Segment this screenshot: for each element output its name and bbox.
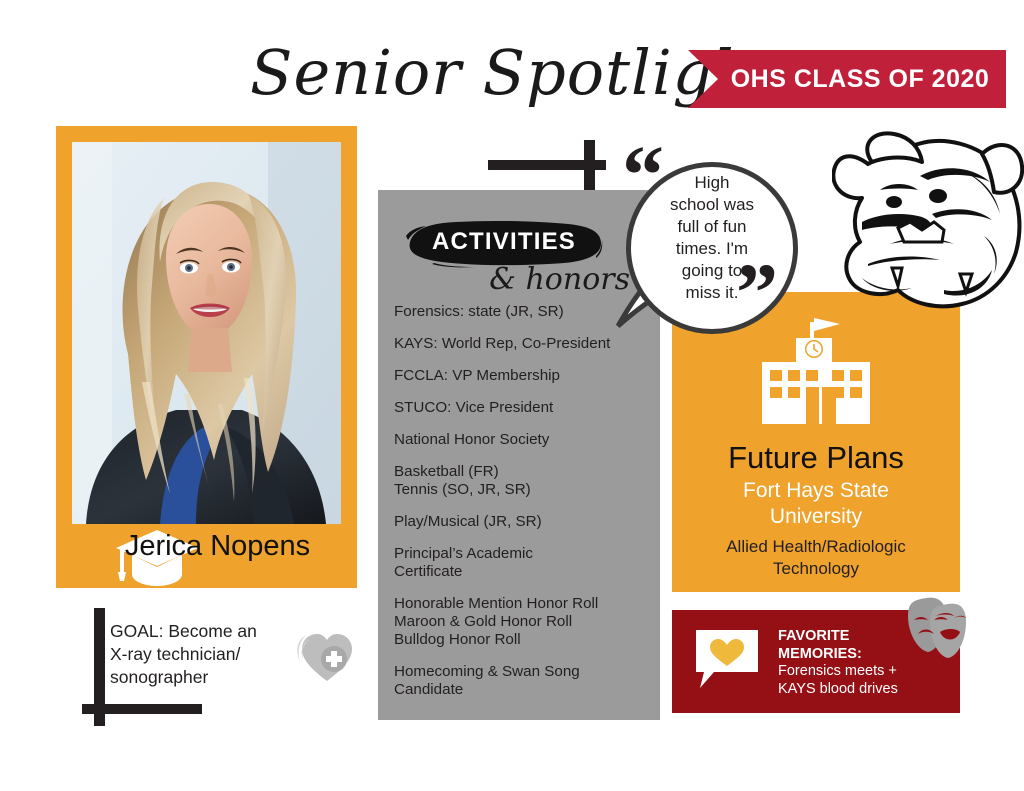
page-title: Senior Spotlight [250,30,700,116]
class-banner: OHS CLASS OF 2020 [688,50,1006,108]
activities-heading: ACTIVITIES [404,228,604,256]
school-line: Fort Hays State [672,478,960,504]
list-item: Homecoming & Swan Song Candidate [394,663,656,699]
goal-line: sonographer [110,666,320,689]
list-item: Basketball (FR) Tennis (SO, JR, SR) [394,463,656,499]
student-quote-bubble: “ ” High school was full of fun times. I… [608,148,824,348]
theater-masks-icon [896,594,968,666]
list-item-line: Bulldog Honor Roll [394,631,656,649]
portrait-photo [72,142,341,524]
list-item-line: Tennis (SO, JR, SR) [394,481,656,499]
list-item: STUCO: Vice President [394,399,656,417]
list-item-line: Principal’s Academic [394,545,656,563]
list-item: FCCLA: VP Membership [394,367,656,385]
senior-portrait-image [72,142,341,524]
major-line: Technology [672,558,960,580]
quote-line: miss it. [642,282,782,304]
list-item-line: Certificate [394,563,656,581]
goal-line: X-ray technician/ [110,643,320,666]
future-plans-title: Future Plans [672,440,960,476]
goal-text: GOAL: Become an X-ray technician/ sonogr… [110,620,320,689]
medical-heart-icon [296,625,358,687]
activities-list: Forensics: state (JR, SR) KAYS: World Re… [394,303,656,713]
list-item-line: Candidate [394,681,656,699]
memories-body-line: KAYS blood drives [778,681,960,699]
quote-line: full of fun [642,216,782,238]
quote-line: school was [642,194,782,216]
heart-speech-bubble-icon [694,628,760,690]
list-item: Principal’s Academic Certificate [394,545,656,581]
future-plans-school: Fort Hays State University [672,478,960,530]
quote-text: High school was full of fun times. I'm g… [642,172,782,304]
student-name: Jerica Nopens [56,530,357,563]
list-item-line: STUCO: Vice President [394,399,656,417]
future-plans-major: Allied Health/Radiologic Technology [672,536,960,580]
quote-line: times. I'm [642,238,782,260]
activities-subheading: & honors [430,262,630,297]
list-item: National Honor Society [394,431,656,449]
list-item: Play/Musical (JR, SR) [394,513,656,531]
list-item-line: Basketball (FR) [394,463,656,481]
list-item-line: FCCLA: VP Membership [394,367,656,385]
major-line: Allied Health/Radiologic [672,536,960,558]
bulldog-mascot-icon [832,118,1024,318]
quote-line: going to [642,260,782,282]
school-line: University [672,504,960,530]
bracket-horizontal-bar [82,704,202,714]
quote-line: High [642,172,782,194]
list-item-line: Maroon & Gold Honor Roll [394,613,656,631]
portrait-card: Jerica Nopens [56,126,357,588]
goal-line: GOAL: Become an [110,620,320,643]
list-item-line: Honorable Mention Honor Roll [394,595,656,613]
list-item-line: Homecoming & Swan Song [394,663,656,681]
list-item-line: National Honor Society [394,431,656,449]
list-item: Honorable Mention Honor Roll Maroon & Go… [394,595,656,649]
class-banner-label: OHS CLASS OF 2020 [731,65,990,94]
senior-spotlight-poster: Senior Spotlight OHS CLASS OF 2020 [0,0,1024,791]
list-item-line: Play/Musical (JR, SR) [394,513,656,531]
